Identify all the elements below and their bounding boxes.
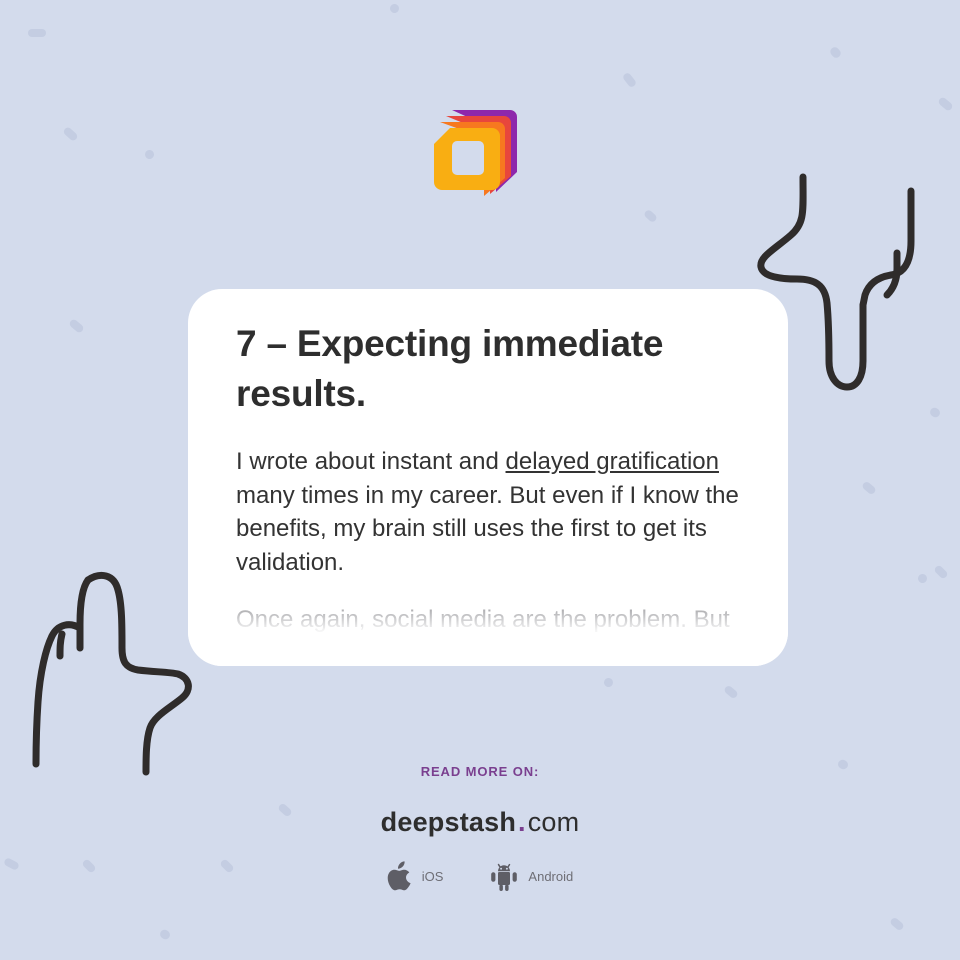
brand-wordmark[interactable]: deepstash.com xyxy=(0,807,960,838)
card-paragraph-1: I wrote about instant and delayed gratif… xyxy=(236,445,740,579)
decor-dash xyxy=(28,29,46,37)
android-icon xyxy=(489,861,519,892)
deepstash-share-card: 7 – Expecting immediate results. I wrote… xyxy=(0,0,960,960)
brand-tld: com xyxy=(528,807,580,837)
apple-icon xyxy=(387,861,413,892)
android-badge[interactable]: Android xyxy=(489,861,573,892)
decor-dash xyxy=(622,72,638,89)
card-title: 7 – Expecting immediate results. xyxy=(236,319,740,419)
decor-dash xyxy=(861,480,877,495)
ios-badge[interactable]: iOS xyxy=(387,861,444,892)
decor-dash xyxy=(643,209,658,224)
decor-dash xyxy=(828,45,842,59)
read-more-label: READ MORE ON: xyxy=(0,764,960,779)
delayed-gratification-link[interactable]: delayed gratification xyxy=(506,448,719,475)
decor-dash xyxy=(68,318,85,334)
app-store-badges: iOS And xyxy=(0,861,960,892)
decor-dash xyxy=(158,928,171,941)
brand-name: deepstash xyxy=(381,807,516,837)
decor-dash xyxy=(937,96,954,112)
deepstash-logo xyxy=(424,100,524,202)
decor-dash xyxy=(917,573,929,585)
decor-dash xyxy=(928,406,941,419)
ios-label: iOS xyxy=(422,869,444,884)
decor-dash xyxy=(603,677,615,689)
paragraph-1-text-after: many times in my career. But even if I k… xyxy=(236,482,739,576)
brand-dot: . xyxy=(518,807,526,837)
card-paragraph-2: Once again, social media are the problem… xyxy=(236,603,740,637)
decor-dash xyxy=(723,684,739,699)
decor-dash xyxy=(388,2,400,14)
decor-dash xyxy=(889,916,905,931)
decor-dash xyxy=(144,149,156,161)
footer: READ MORE ON: deepstash.com iOS xyxy=(0,764,960,892)
android-label: Android xyxy=(528,869,573,884)
idea-card: 7 – Expecting immediate results. I wrote… xyxy=(188,289,788,666)
decor-dash xyxy=(62,126,79,142)
decor-dash xyxy=(933,564,949,579)
paragraph-1-text-before: I wrote about instant and xyxy=(236,448,506,475)
